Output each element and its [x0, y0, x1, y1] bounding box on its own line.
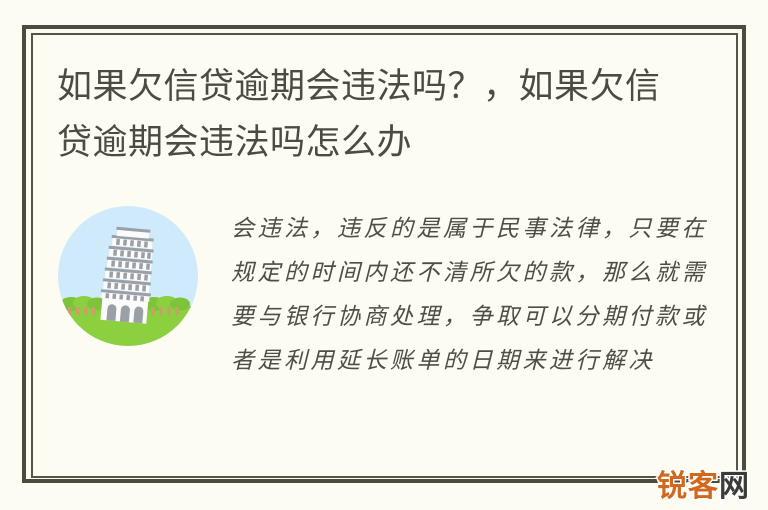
watermark-text-dark: 网 [719, 470, 750, 503]
page-title: 如果欠信贷逾期会违法吗？，如果欠信贷逾期会违法吗怎么办 [57, 59, 667, 171]
article-text: 会违法，违反的是属于民事法律，只要在规定的时间内还不清所欠的款，那么就需要与银行… [231, 201, 712, 383]
content-area: 如果欠信贷逾期会违法吗？，如果欠信贷逾期会违法吗怎么办 [31, 33, 738, 478]
watermark-text-orange: 锐客 [657, 470, 719, 503]
article-block: 会违法，违反的是属于民事法律，只要在规定的时间内还不清所欠的款，那么就需要与银行… [57, 201, 712, 383]
page-root: 如果欠信贷逾期会违法吗？，如果欠信贷逾期会违法吗怎么办 [0, 0, 768, 510]
site-watermark: 锐客网 [657, 472, 750, 502]
leaning-tower-of-pisa-icon [57, 205, 199, 347]
